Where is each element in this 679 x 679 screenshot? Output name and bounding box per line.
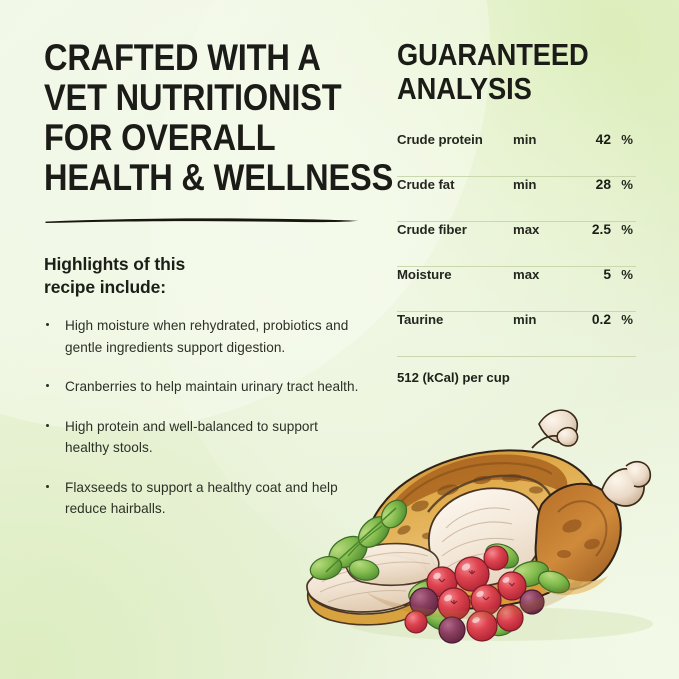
cranberry-cluster xyxy=(405,546,544,643)
bullet-dot-icon xyxy=(46,485,49,488)
list-item-label: High protein and well-balanced to suppor… xyxy=(65,416,364,459)
highlights-heading-line-1: Highlights of this xyxy=(44,253,364,276)
list-item: High moisture when rehydrated, probiotic… xyxy=(44,315,364,358)
nutrient-label: Crude fat xyxy=(397,177,513,192)
guaranteed-analysis-heading: GUARANTEED ANALYSIS xyxy=(397,38,610,106)
highlights-heading: Highlights of this recipe include: xyxy=(44,253,364,299)
list-item-label: Flaxseeds to support a healthy coat and … xyxy=(65,477,364,520)
guaranteed-analysis-heading-line-2: ANALYSIS xyxy=(397,72,610,106)
highlights-heading-line-2: recipe include: xyxy=(44,276,364,299)
headline-line-1: CRAFTED WITH A xyxy=(44,38,326,78)
nutrient-unit: % xyxy=(611,132,633,147)
turkey-shadow xyxy=(349,607,653,641)
garnish-leaves-right xyxy=(405,539,572,638)
table-row: Crude fiber max 2.5 % xyxy=(397,222,636,267)
list-item-label: Cranberries to help maintain urinary tra… xyxy=(65,376,364,397)
headline-line-2: VET NUTRITIONIST xyxy=(44,78,326,118)
table-row: Moisture max 5 % xyxy=(397,267,636,312)
table-row: Taurine min 0.2 % xyxy=(397,312,636,357)
list-item: Cranberries to help maintain urinary tra… xyxy=(44,376,364,397)
nutrient-value: 0.2 xyxy=(571,312,611,327)
guaranteed-analysis-heading-line-1: GUARANTEED xyxy=(397,38,610,72)
table-row: Crude protein min 42 % xyxy=(397,132,636,177)
headline-line-4: HEALTH & WELLNESS xyxy=(44,158,326,198)
cranberry-highlights xyxy=(432,562,510,624)
turkey-roast-speckles xyxy=(383,473,543,577)
list-item-label: High moisture when rehydrated, probiotic… xyxy=(65,315,364,358)
nutrient-value: 5 xyxy=(571,267,611,282)
right-column: GUARANTEED ANALYSIS Crude protein min 42… xyxy=(397,38,639,385)
turkey-leg-back xyxy=(532,410,578,448)
guaranteed-analysis-table: Crude protein min 42 % Crude fat min 28 … xyxy=(397,132,636,385)
nutrient-limit: min xyxy=(513,177,571,192)
table-row: Crude fat min 28 % xyxy=(397,177,636,222)
turkey-flank-highlight xyxy=(543,566,609,595)
hand-drawn-divider xyxy=(44,211,360,219)
cranberry-calyx xyxy=(439,570,515,604)
list-item: High protein and well-balanced to suppor… xyxy=(44,416,364,459)
sliced-turkey-breast xyxy=(307,544,439,625)
nutrient-unit: % xyxy=(611,312,633,327)
product-info-panel: CRAFTED WITH A VET NUTRITIONIST FOR OVER… xyxy=(0,0,679,679)
headline-line-3: FOR OVERALL xyxy=(44,118,326,158)
nutrient-unit: % xyxy=(611,222,633,237)
list-item: Flaxseeds to support a healthy coat and … xyxy=(44,477,364,520)
nutrient-label: Crude protein xyxy=(397,132,513,147)
watercolor-wash xyxy=(366,568,592,619)
breast-grain-lines xyxy=(442,508,516,578)
calorie-content: 512 (kCal) per cup xyxy=(397,370,636,385)
turkey-roasted-top xyxy=(383,455,567,525)
nutrient-limit: min xyxy=(513,312,571,327)
bullet-dot-icon xyxy=(46,384,49,387)
highlights-list: High moisture when rehydrated, probiotic… xyxy=(44,315,364,519)
turkey-drumstick xyxy=(536,462,651,590)
nutrient-limit: max xyxy=(513,222,571,237)
nutrient-value: 28 xyxy=(571,177,611,192)
page-title: CRAFTED WITH A VET NUTRITIONIST FOR OVER… xyxy=(44,38,326,198)
nutrient-label: Crude fiber xyxy=(397,222,513,237)
turkey-carved-breast xyxy=(429,488,543,586)
nutrient-label: Taurine xyxy=(397,312,513,327)
nutrient-value: 2.5 xyxy=(571,222,611,237)
bullet-dot-icon xyxy=(46,323,49,326)
nutrient-value: 42 xyxy=(571,132,611,147)
nutrient-limit: max xyxy=(513,267,571,282)
nutrient-unit: % xyxy=(611,267,633,282)
bullet-dot-icon xyxy=(46,424,49,427)
nutrient-label: Moisture xyxy=(397,267,513,282)
nutrient-limit: min xyxy=(513,132,571,147)
nutrient-unit: % xyxy=(611,177,633,192)
left-column: CRAFTED WITH A VET NUTRITIONIST FOR OVER… xyxy=(44,38,364,520)
carve-line-lower xyxy=(424,554,540,597)
turkey-body xyxy=(361,450,602,608)
carve-line-upper xyxy=(428,476,552,512)
